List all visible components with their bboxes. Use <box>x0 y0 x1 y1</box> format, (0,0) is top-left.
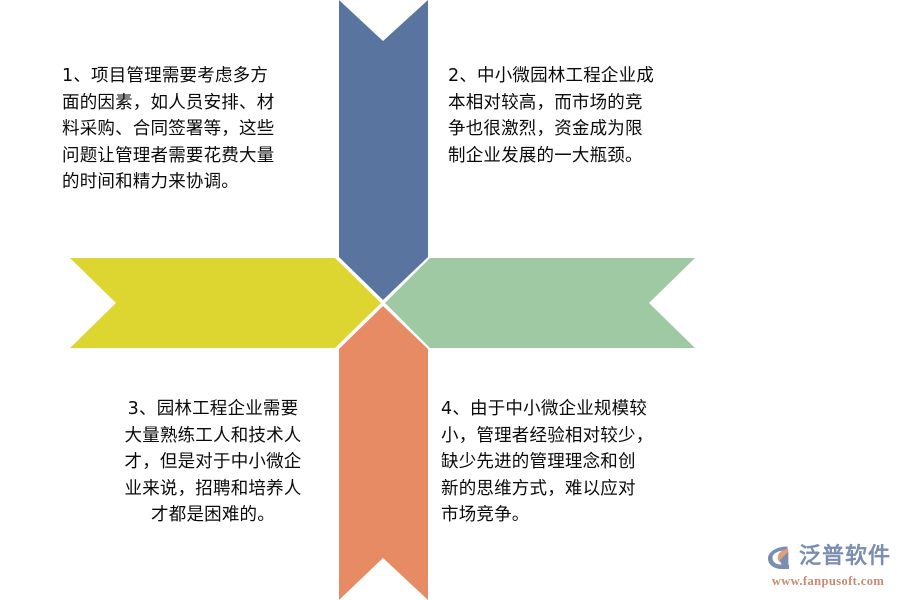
text-block-1: 1、项目管理需要考虑多方 面的因素，如人员安排、材 料采购、合同签署等，这些 问… <box>62 63 330 196</box>
infographic-canvas: 1、项目管理需要考虑多方 面的因素，如人员安排、材 料采购、合同签署等，这些 问… <box>0 0 900 600</box>
text-block-4: 4、由于中小微企业规模较 小，管理者经验相对较少， 缺少先进的管理理念和创 新的… <box>441 396 713 529</box>
text-block-3: 3、园林工程企业需要 大量熟练工人和技术人 才，但是对于中小微企 业来说，招聘和… <box>86 396 340 529</box>
watermark-brand-name: 泛普软件 <box>799 546 891 568</box>
watermark: 泛普软件 www.fanpusoft.com <box>762 538 894 592</box>
watermark-brand-row: 泛普软件 <box>765 542 891 572</box>
top-blue-ribbon-shape <box>339 0 428 300</box>
text-block-2: 2、中小微园林工程企业成 本相对较高，而市场的竞 争也很激烈，资金成为限 制企业… <box>448 63 710 169</box>
fanpu-swoosh-logo-icon <box>765 542 795 572</box>
left-yellow-arrow-shape <box>70 258 381 348</box>
right-green-arrow-shape <box>385 258 695 348</box>
watermark-url: www.fanpusoft.com <box>772 574 884 589</box>
bottom-orange-ribbon-shape <box>339 306 428 600</box>
